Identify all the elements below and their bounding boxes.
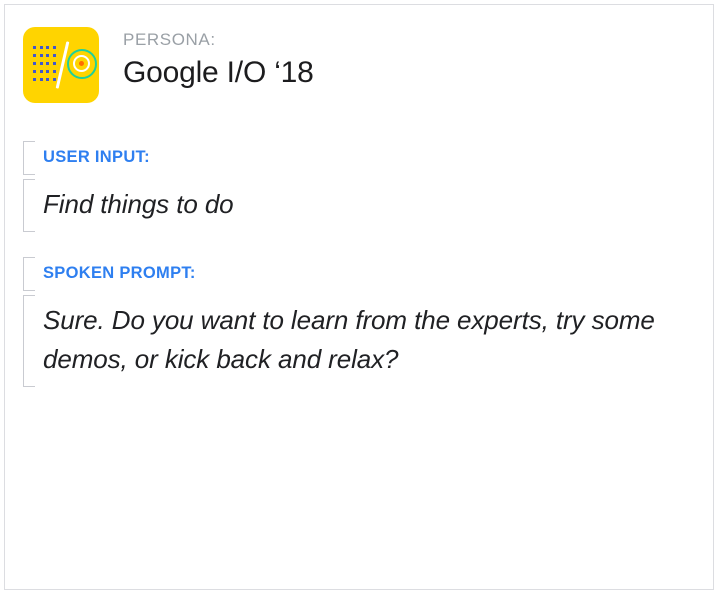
user-input-text: Find things to do <box>43 179 687 232</box>
user-input-kicker: USER INPUT: <box>43 141 687 175</box>
persona-title: Google I/O ‘18 <box>123 53 314 93</box>
spoken-prompt-kicker-bracket: SPOKEN PROMPT: <box>23 257 687 291</box>
user-input-text-bracket: Find things to do <box>23 179 687 232</box>
section-user-input: USER INPUT: Find things to do <box>23 141 687 232</box>
user-input-kicker-bracket: USER INPUT: <box>23 141 687 175</box>
spoken-prompt-text: Sure. Do you want to learn from the expe… <box>43 295 687 387</box>
persona-card: PERSONA: Google I/O ‘18 USER INPUT: Find… <box>4 4 714 590</box>
spoken-prompt-text-bracket: Sure. Do you want to learn from the expe… <box>23 295 687 387</box>
section-spoken-prompt: SPOKEN PROMPT: Sure. Do you want to lear… <box>23 257 687 387</box>
persona-text-group: PERSONA: Google I/O ‘18 <box>123 27 314 93</box>
persona-label: PERSONA: <box>123 29 314 51</box>
logo-dot-grid-icon <box>33 46 57 84</box>
persona-header: PERSONA: Google I/O ‘18 <box>23 27 314 103</box>
google-io-logo-icon <box>23 27 99 103</box>
spoken-prompt-kicker: SPOKEN PROMPT: <box>43 257 687 291</box>
logo-circle-icon <box>67 49 97 79</box>
